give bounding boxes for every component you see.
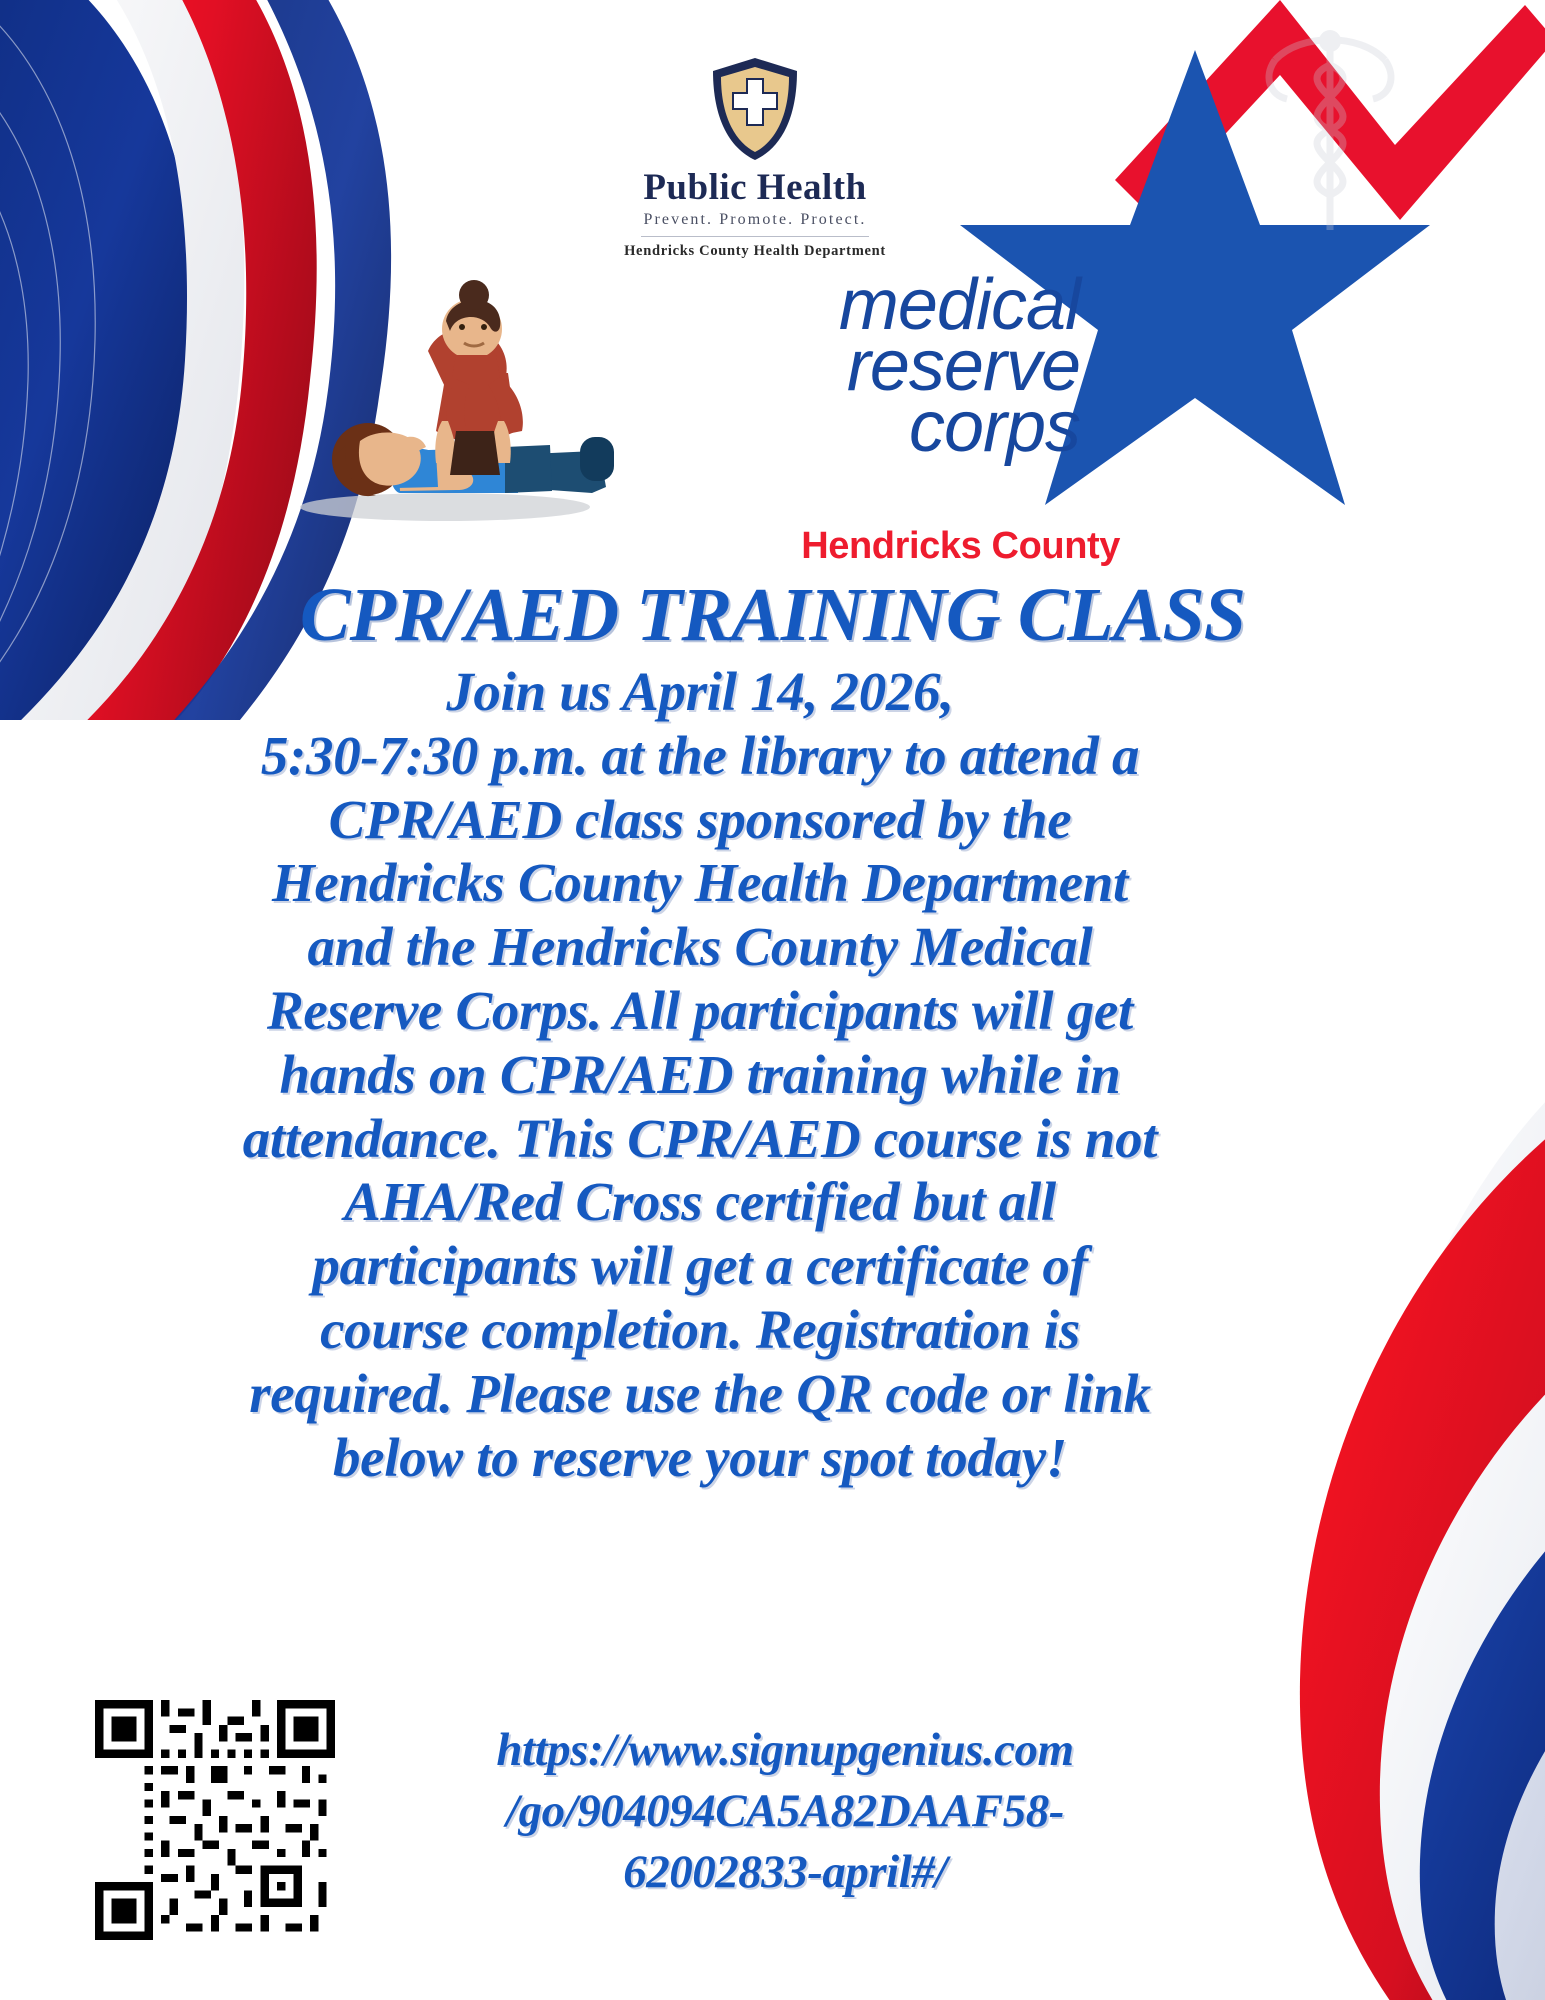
flyer-page: Public Health Prevent. Promote. Protect.… <box>0 0 1545 2000</box>
body-line: below to reserve your spot today! <box>70 1426 1330 1490</box>
url-line: /go/904094CA5A82DAAF58- <box>355 1781 1215 1842</box>
body-copy: Join us April 14, 2026, 5:30-7:30 p.m. a… <box>70 660 1330 1489</box>
cpr-compression-illustration <box>250 255 660 535</box>
qr-code-matrix <box>95 1700 335 1940</box>
caduceus-icon <box>1215 25 1445 245</box>
public-health-title: Public Health <box>615 169 895 206</box>
body-line: participants will get a certificate of <box>70 1234 1330 1298</box>
shield-cross-icon <box>709 55 801 163</box>
body-line: Hendricks County Health Department <box>70 851 1330 915</box>
public-health-tagline: Prevent. Promote. Protect. <box>615 211 895 229</box>
body-line: attendance. This CPR/AED course is not <box>70 1107 1330 1171</box>
page-title: CPR/AED TRAINING CLASS <box>0 577 1545 653</box>
body-line: Join us April 14, 2026, <box>70 660 1330 724</box>
body-line: required. Please use the QR code or link <box>70 1362 1330 1426</box>
body-line: CPR/AED class sponsored by the <box>70 788 1330 852</box>
mrc-line-corps: corps <box>690 397 1080 458</box>
body-line: AHA/Red Cross certified but all <box>70 1170 1330 1234</box>
body-line: hands on CPR/AED training while in <box>70 1043 1330 1107</box>
public-health-department: Hendricks County Health Department <box>615 243 895 260</box>
medical-reserve-corps-logo: medical reserve corps <box>690 275 1080 459</box>
body-line: and the Hendricks County Medical <box>70 915 1330 979</box>
logo-divider <box>641 236 869 237</box>
public-health-logo: Public Health Prevent. Promote. Protect.… <box>615 55 895 260</box>
body-line: Reserve Corps. All participants will get <box>70 979 1330 1043</box>
mrc-county-label: Hendricks County <box>790 525 1120 568</box>
url-line: 62002833-april#/ <box>355 1842 1215 1903</box>
url-line: https://www.signupgenius.com <box>355 1720 1215 1781</box>
body-line: 5:30-7:30 p.m. at the library to attend … <box>70 724 1330 788</box>
qr-code-icon[interactable] <box>95 1700 335 1940</box>
header-logos: Public Health Prevent. Promote. Protect.… <box>0 0 1545 600</box>
signup-url[interactable]: https://www.signupgenius.com /go/904094C… <box>355 1720 1215 1903</box>
body-line: course completion. Registration is <box>70 1298 1330 1362</box>
